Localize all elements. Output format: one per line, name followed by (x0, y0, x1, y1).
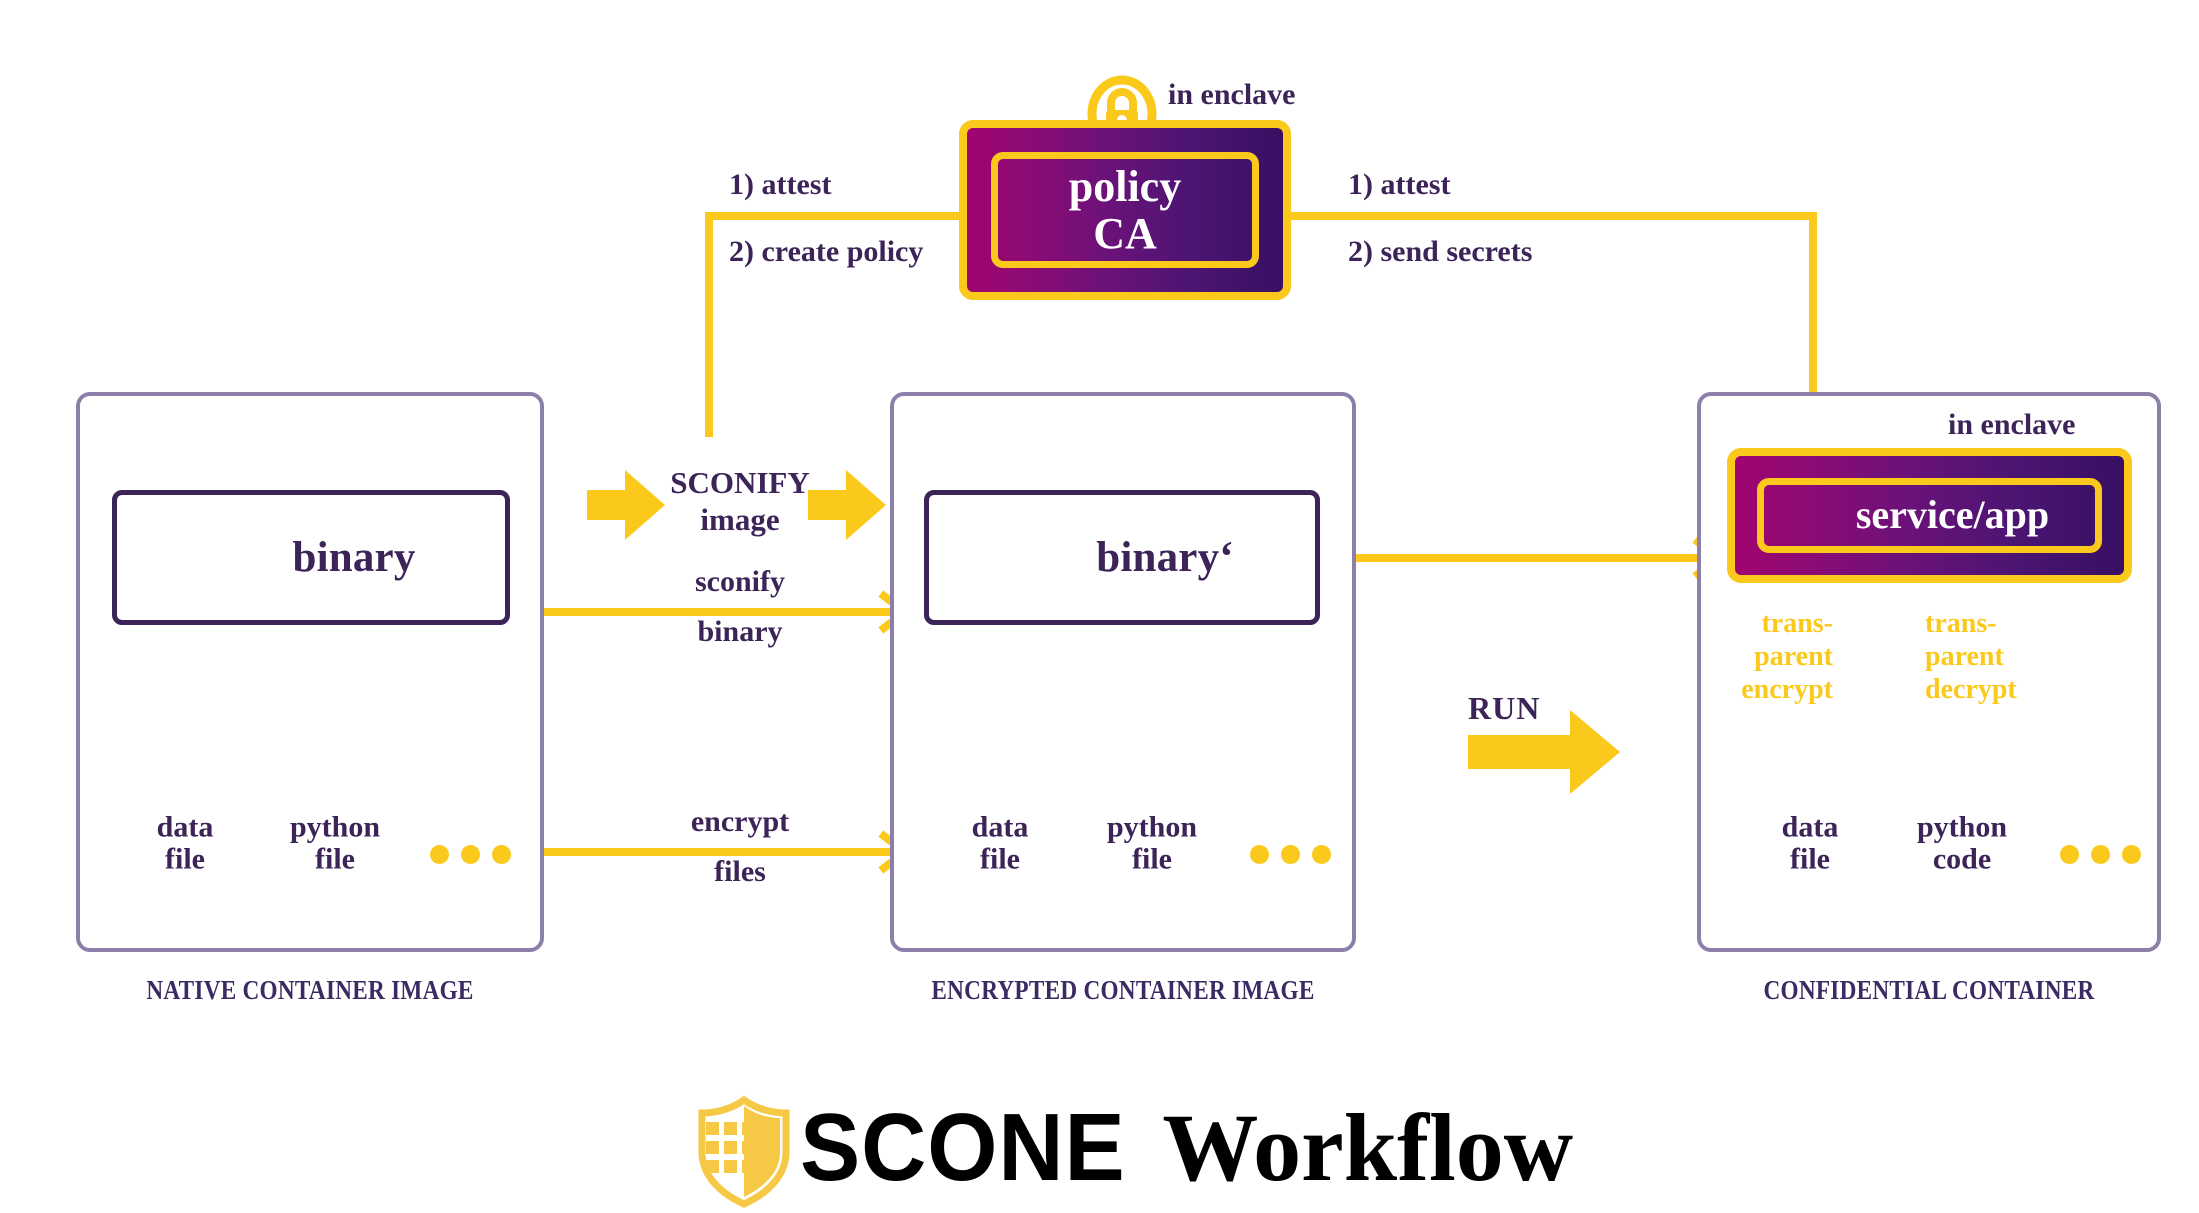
scone-workflow-logo: SCONE Workflow (800, 1092, 1573, 1203)
arrow-binary-to-service (1325, 542, 1719, 574)
logo-word-scone: SCONE (800, 1093, 1126, 1203)
encrypted-python-file-label: python file (1082, 811, 1222, 875)
policy-ca-label: policy CA (1069, 163, 1181, 257)
label-left-step1: 1) attest (729, 168, 831, 203)
encrypted-python-file[interactable]: python file (1082, 760, 1222, 916)
native-ellipsis (430, 845, 511, 864)
label-encrypt-bottom: files (660, 855, 820, 890)
label-right-step2: 2) send secrets (1348, 235, 1532, 270)
label-right-step1: 1) attest (1348, 168, 1450, 203)
logo-word-workflow: Workflow (1162, 1092, 1573, 1203)
policy-ca-inner-box: policy CA (991, 152, 1259, 268)
native-binary-label: binary (292, 533, 415, 582)
label-run: RUN (1468, 690, 1540, 727)
label-left-step2: 2) create policy (729, 235, 923, 270)
native-python-file-label: python file (265, 811, 405, 875)
confidential-data-file[interactable]: data file (1740, 760, 1880, 916)
native-container-caption: NATIVE CONTAINER IMAGE (109, 975, 511, 1006)
label-encrypt-top: encrypt (660, 805, 820, 840)
native-binary-box[interactable]: binary (112, 490, 510, 625)
label-sconify-bottom: binary (660, 615, 820, 650)
encrypted-data-file[interactable]: data file (930, 760, 1070, 916)
label-transparent-encrypt: trans- parent encrypt (1705, 608, 1833, 706)
diagram-canvas: 01 10 01 10 (0, 0, 2199, 1213)
encrypted-binary-box[interactable]: binary‘ (924, 490, 1320, 625)
native-data-file[interactable]: data file (115, 760, 255, 916)
native-python-file[interactable]: python file (265, 760, 405, 916)
label-transparent-decrypt: trans- parent decrypt (1925, 608, 2065, 706)
policy-ca-in-enclave-label: in enclave (1168, 78, 1296, 112)
native-data-file-label: data file (115, 811, 255, 875)
encrypted-ellipsis (1250, 845, 1331, 864)
confidential-container-caption: CONFIDENTIAL CONTAINER (1729, 975, 2128, 1006)
confidential-python-code-label: python code (1892, 811, 2032, 875)
label-sconify-top: sconify (660, 565, 820, 600)
service-app-in-enclave-label: in enclave (1948, 408, 2076, 442)
encrypted-container-caption: ENCRYPTED CONTAINER IMAGE (923, 975, 1324, 1006)
policy-ca-enclave-box[interactable]: policy CA (959, 120, 1291, 300)
confidential-ellipsis (2060, 845, 2141, 864)
service-app-enclave-box[interactable]: service/app (1727, 448, 2132, 583)
scone-shield-icon (702, 1100, 786, 1204)
encrypted-data-file-label: data file (930, 811, 1070, 875)
block-arrow-left (587, 470, 665, 540)
service-app-label: service/app (1810, 494, 2049, 537)
service-app-inner-box: service/app (1757, 478, 2102, 553)
label-sconify-image: SCONIFY image (660, 465, 820, 538)
confidential-data-file-label: data file (1740, 811, 1880, 875)
confidential-python-code[interactable]: python code (1892, 760, 2032, 916)
encrypted-binary-label: binary‘ (1096, 533, 1234, 582)
